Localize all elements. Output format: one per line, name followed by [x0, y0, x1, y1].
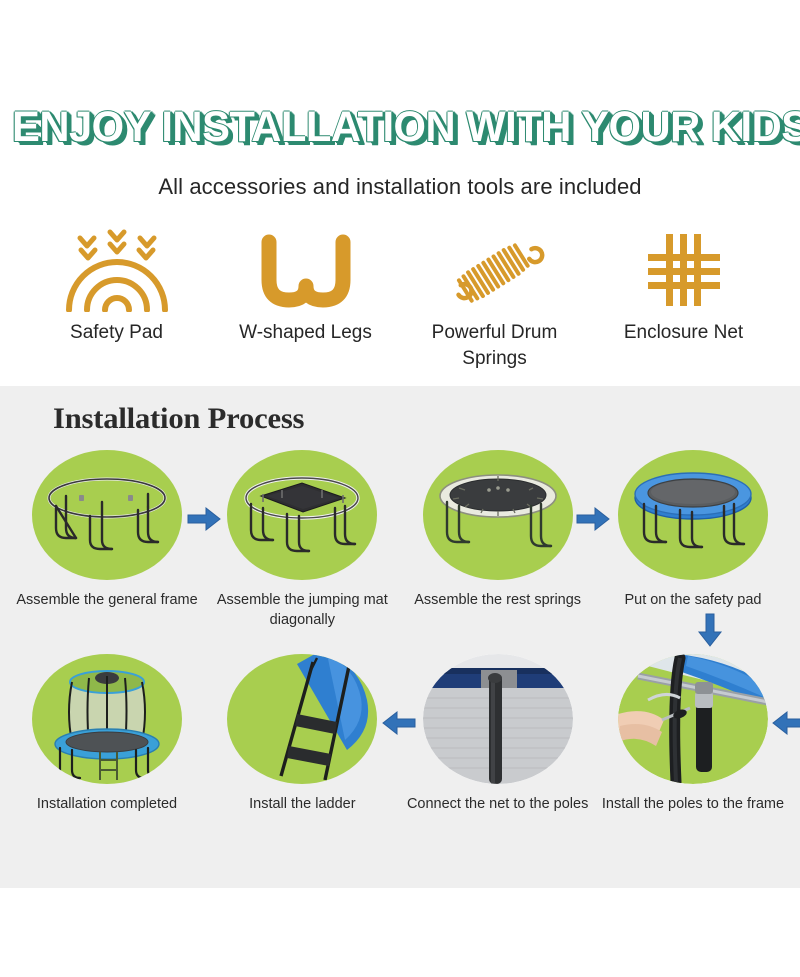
process-step-assemble-rest-springs: Assemble the rest springs	[405, 450, 591, 630]
step-illustration	[32, 450, 182, 580]
w-shaped-legs-icon	[211, 226, 400, 312]
feature-label: W-shaped Legs	[211, 320, 400, 346]
feature-item-enclosure-net: Enclosure Net	[589, 226, 778, 372]
step-illustration	[618, 654, 768, 784]
process-step-install-poles-to-frame: Install the poles to the frame	[600, 654, 786, 814]
header-section: ENJOY INSTALLATION WITH YOUR KIDS All ac…	[0, 0, 800, 200]
step-caption: Connect the net to the poles	[405, 794, 591, 814]
step-caption: Assemble the rest springs	[405, 590, 591, 610]
process-step-put-on-safety-pad: Put on the safety pad	[600, 450, 786, 630]
installation-process-panel: Installation Process	[0, 386, 800, 888]
feature-list: Safety Pad W-shaped Legs	[0, 200, 800, 372]
feature-label: Enclosure Net	[589, 320, 778, 346]
process-step-connect-net-to-poles: Connect the net to the poles	[405, 654, 591, 814]
feature-label: Safety Pad	[22, 320, 211, 346]
step-illustration	[227, 450, 377, 580]
step-caption: Install the ladder	[209, 794, 395, 814]
step-illustration	[227, 654, 377, 784]
step-illustration	[423, 654, 573, 784]
process-step-assemble-general-frame: Assemble the general frame	[14, 450, 200, 630]
page-subtitle: All accessories and installation tools a…	[0, 174, 800, 200]
feature-item-safety-pad: Safety Pad	[22, 226, 211, 372]
page-title: ENJOY INSTALLATION WITH YOUR KIDS	[12, 104, 788, 150]
feature-item-w-shaped-legs: W-shaped Legs	[211, 226, 400, 372]
process-row-1: Assemble the general frame	[0, 450, 800, 630]
process-step-installation-completed: Installation completed	[14, 654, 200, 814]
arrow-down-icon	[697, 612, 723, 648]
drum-spring-icon	[400, 226, 589, 312]
step-caption: Install the poles to the frame	[600, 794, 786, 814]
process-title: Installation Process	[0, 386, 800, 436]
process-step-install-ladder: Install the ladder	[209, 654, 395, 814]
step-illustration	[32, 654, 182, 784]
process-row-2: Installation completed	[0, 654, 800, 814]
step-illustration	[423, 450, 573, 580]
feature-label: Powerful Drum Springs	[400, 320, 589, 372]
safety-pad-icon	[22, 226, 211, 312]
step-caption: Installation completed	[14, 794, 200, 814]
step-caption: Put on the safety pad	[600, 590, 786, 610]
step-caption: Assemble the jumping mat diagonally	[209, 590, 395, 630]
step-illustration	[618, 450, 768, 580]
process-step-assemble-jumping-mat: Assemble the jumping mat diagonally	[209, 450, 395, 630]
enclosure-net-icon	[589, 226, 778, 312]
feature-item-drum-springs: Powerful Drum Springs	[400, 226, 589, 372]
step-caption: Assemble the general frame	[14, 590, 200, 610]
